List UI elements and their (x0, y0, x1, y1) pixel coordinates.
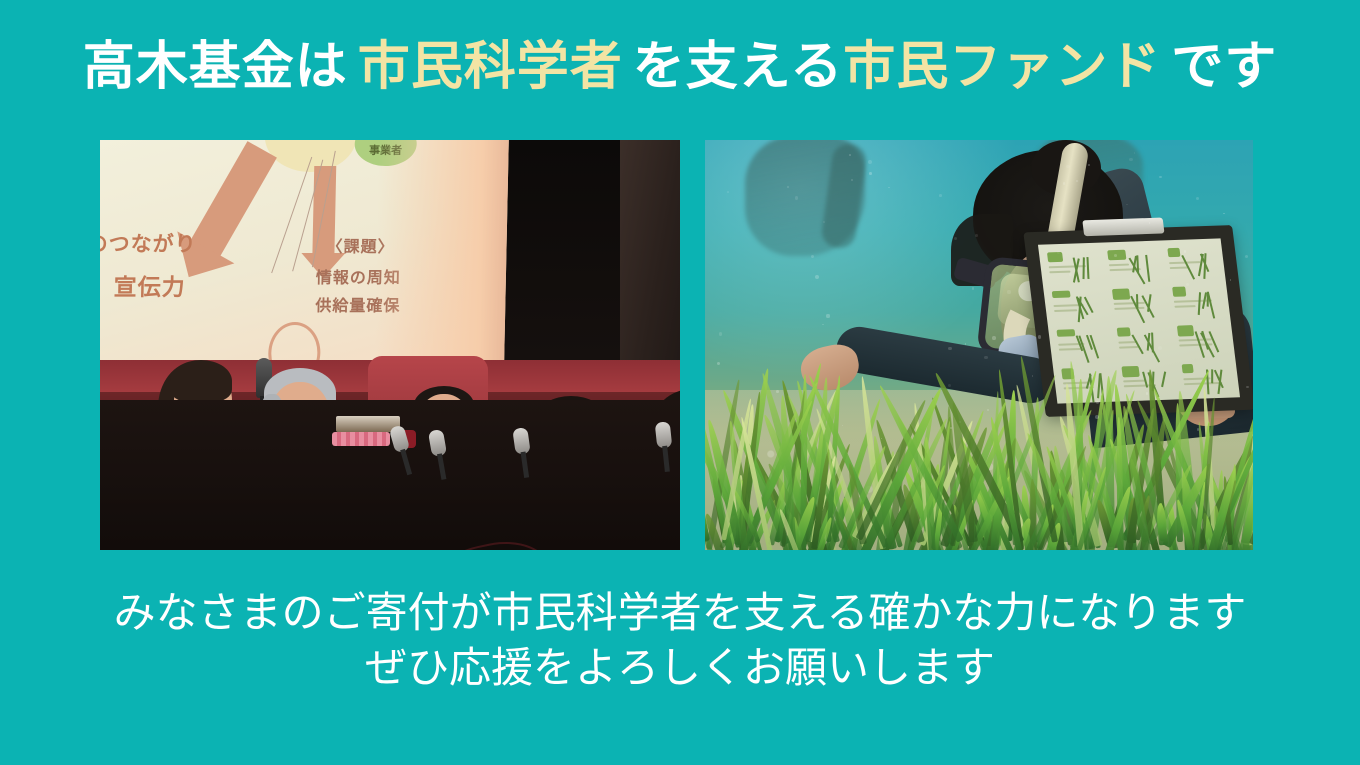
water-particle (787, 186, 789, 188)
donation-message: みなさまのご寄付が市民科学者を支える確かな力になります ぜひ応援をよろしくお願い… (0, 586, 1360, 695)
water-particle (1246, 386, 1248, 388)
screen-text-line1: のつながり (100, 228, 197, 258)
title-highlight-2: 市民ファンド (843, 38, 1161, 96)
slate-plant-illustration (1086, 257, 1089, 279)
water-particle (717, 362, 720, 365)
water-particle (1146, 392, 1148, 394)
water-particle (851, 179, 853, 181)
water-particle (849, 154, 851, 156)
water-particle (1085, 222, 1087, 224)
title-part-1: 高木基金は (83, 38, 348, 96)
water-particle (1103, 400, 1105, 402)
slate-text-line (1114, 302, 1145, 305)
water-particle (954, 237, 957, 240)
water-particle (1197, 428, 1200, 431)
slate-text-line (1174, 305, 1195, 308)
title-highlight-1: 市民科学者 (358, 38, 623, 96)
water-particle (826, 314, 829, 317)
water-particle (823, 221, 825, 223)
slate-color-swatch (1047, 252, 1063, 263)
water-particle (1063, 182, 1065, 184)
title-part-3: です (1171, 38, 1277, 96)
water-particle (948, 384, 951, 387)
water-particle (1007, 290, 1010, 293)
water-particle (1057, 251, 1060, 254)
water-particle (1149, 222, 1151, 224)
water-particle (975, 234, 978, 237)
slate-text-line (1049, 265, 1086, 268)
slate-plant-illustration (1198, 292, 1201, 315)
slate-plant-illustration (1083, 257, 1085, 279)
hair-top (170, 360, 232, 402)
title-part-2: を支える (633, 38, 843, 96)
table-object-pink (332, 432, 390, 446)
water-particle (1196, 197, 1199, 200)
water-particle (972, 287, 975, 290)
page-title: 高木基金は市民科学者を支える市民ファンドです (0, 38, 1360, 98)
water-particle (1126, 204, 1127, 205)
water-particle (948, 347, 951, 350)
water-particle (1088, 164, 1090, 166)
water-particle (965, 343, 966, 344)
water-particle (1159, 176, 1162, 179)
water-particle (822, 324, 824, 326)
seagrass-meadow (705, 320, 1253, 550)
slate-color-swatch (1167, 248, 1181, 257)
slate-plant-illustration (1145, 255, 1150, 282)
water-particle (795, 196, 798, 199)
water-particle (992, 336, 996, 340)
screen-text-line2: 宣伝力 (113, 268, 186, 302)
water-particle (1032, 375, 1033, 376)
slide-root: 高木基金は市民科学者を支える市民ファンドです 事業者 のつながり 宣伝力 〈課題… (0, 0, 1360, 765)
slate-color-swatch (1052, 291, 1071, 299)
slate-text-line (1054, 309, 1077, 312)
slate-text-line (1109, 264, 1129, 267)
water-particle (869, 172, 872, 175)
water-particle (811, 255, 814, 258)
down-arrow-large-icon (188, 141, 277, 261)
message-line-2: ぜひ応援をよろしくお願いします (0, 641, 1360, 696)
photo-underwater-seagrass-survey (705, 140, 1253, 550)
message-line-1: みなさまのご寄付が市民科学者を支える確かな力になります (0, 586, 1360, 641)
water-particle (939, 194, 942, 197)
water-particle (1069, 273, 1072, 276)
slate-clip (1082, 218, 1164, 237)
water-particle (1066, 165, 1070, 169)
water-particle (1076, 180, 1078, 182)
slate-color-swatch (1172, 287, 1186, 298)
slate-text-line (1049, 271, 1070, 274)
table-microphone (655, 421, 673, 448)
slate-color-swatch (1112, 288, 1130, 299)
water-particle (987, 409, 989, 411)
slate-text-line (1114, 307, 1144, 310)
water-particle (1129, 158, 1132, 161)
photo-symposium-panel: 事業者 のつながり 宣伝力 〈課題〉 情報の周知 供給量確保 (100, 140, 680, 550)
